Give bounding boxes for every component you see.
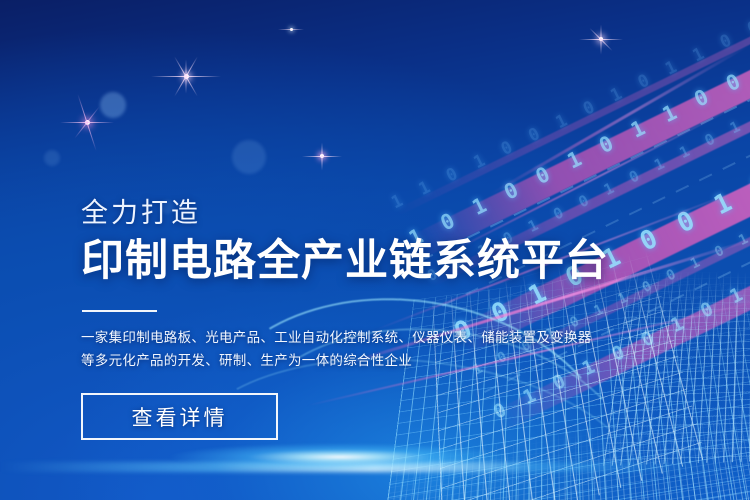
binary-digits-text: 1 1 0 1 0 0 1 0 1 0 1 1 0 0 1 0 [388, 0, 750, 213]
sparkle-ray [186, 60, 187, 94]
sparkle-core [320, 154, 324, 158]
hero-description-line-2: 等多元化产品的开发、研制、生产为一体的综合性企业 [81, 349, 581, 372]
sparkle-ray [174, 56, 198, 96]
sparkle-ray [302, 156, 342, 157]
sparkle-ray [77, 94, 96, 151]
sparkle-ray [322, 143, 323, 171]
hero-eyebrow: 全力打造 [81, 196, 641, 230]
ribbon-band [395, 0, 750, 216]
bokeh-dot [100, 92, 126, 118]
sparkle-star-icon [185, 75, 187, 77]
sparkle-core [85, 120, 90, 125]
bokeh-dot [44, 150, 60, 166]
sparkle-ray [589, 28, 612, 51]
sparkle-ray [74, 106, 99, 138]
sparkle-star-icon [321, 155, 323, 157]
hero-content: 全力打造 印制电路全产业链系统平台 一家集印制电路板、光电产品、工业自动化控制系… [81, 196, 641, 440]
sparkle-ray [174, 56, 198, 96]
light-streak [489, 43, 750, 196]
bokeh-dot [232, 140, 266, 174]
sparkle-ray [60, 122, 114, 123]
hero-banner: 1 1 0 1 0 0 1 0 1 0 1 1 0 0 1 0 1 0 1 0 … [0, 0, 750, 500]
sparkle-core [599, 37, 603, 41]
sparkle-core [184, 74, 189, 79]
view-details-button[interactable]: 查看详情 [81, 393, 278, 440]
sparkle-ray [579, 39, 623, 40]
hero-headline: 印制电路全产业链系统平台 [81, 236, 641, 286]
sparkle-ray [151, 76, 221, 77]
sparkle-star-icon [86, 121, 88, 123]
sparkle-star-icon [290, 28, 292, 30]
sparkle-ray [278, 29, 304, 30]
sparkle-star-icon [600, 38, 602, 40]
hero-description: 一家集印制电路板、光电产品、工业自动化控制系统、仪器仪表、储能装置及变换器 等多… [81, 326, 581, 372]
hero-description-line-1: 一家集印制电路板、光电产品、工业自动化控制系统、仪器仪表、储能装置及变换器 [81, 326, 581, 349]
divider-rule [82, 310, 157, 312]
sparkle-ray [601, 25, 602, 55]
sparkle-core [290, 28, 293, 31]
light-flare-line [0, 462, 720, 472]
